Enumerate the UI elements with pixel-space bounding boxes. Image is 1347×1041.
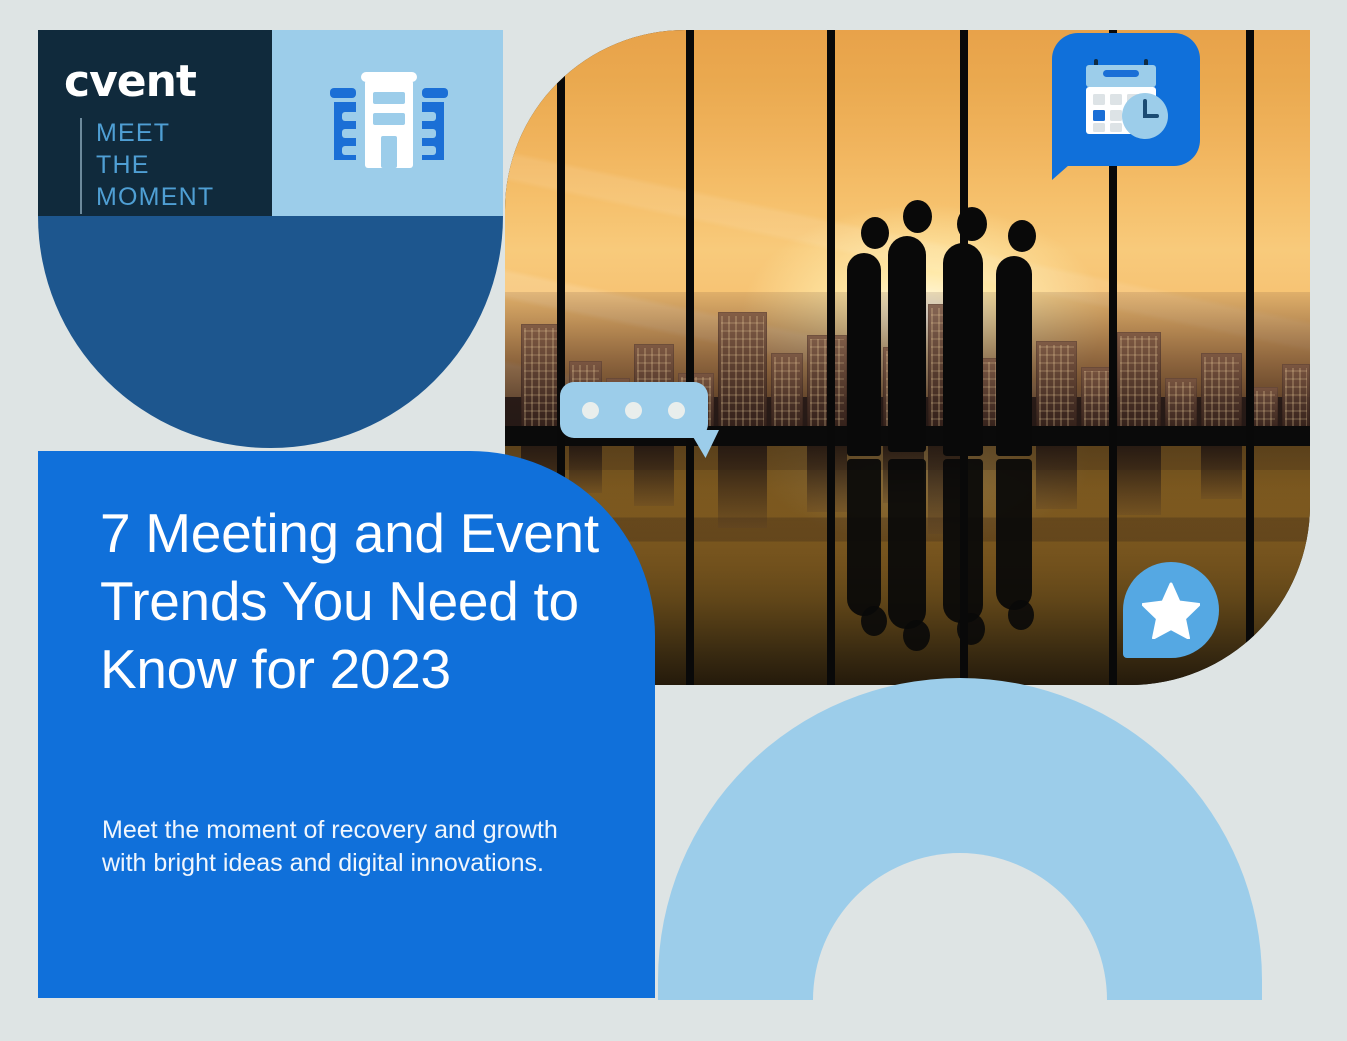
page-subtitle: Meet the moment of recovery and growth w…: [102, 814, 602, 881]
icon-panel: [272, 30, 503, 216]
chat-bubble-icon: [560, 382, 708, 438]
tagline-divider: [80, 118, 82, 214]
calendar-clock-icon: [1082, 56, 1174, 142]
office-building-icon: [330, 72, 448, 176]
logo-panel: cvent MEET THE MOMENT: [38, 30, 272, 216]
tagline-text: MEET THE MOMENT: [96, 118, 214, 214]
chat-dot-3: [668, 402, 685, 419]
tagline-line-2: THE: [96, 150, 214, 182]
chat-dot-2: [625, 402, 642, 419]
tagline-line-3: MOMENT: [96, 182, 214, 214]
chat-dot-1: [582, 402, 599, 419]
decorative-arc: [658, 678, 1262, 1000]
cvent-wordmark: cvent: [64, 56, 196, 107]
decorative-arc-hole: [813, 853, 1107, 1000]
star-icon: [1142, 581, 1200, 639]
decorative-semicircle: [38, 216, 503, 448]
title-panel: 7 Meeting and Event Trends You Need to K…: [38, 451, 655, 998]
page-title: 7 Meeting and Event Trends You Need to K…: [100, 499, 620, 704]
cover-canvas: cvent MEET THE MOMENT: [0, 0, 1347, 1041]
tagline-group: MEET THE MOMENT: [80, 118, 214, 214]
tagline-line-1: MEET: [96, 118, 214, 150]
